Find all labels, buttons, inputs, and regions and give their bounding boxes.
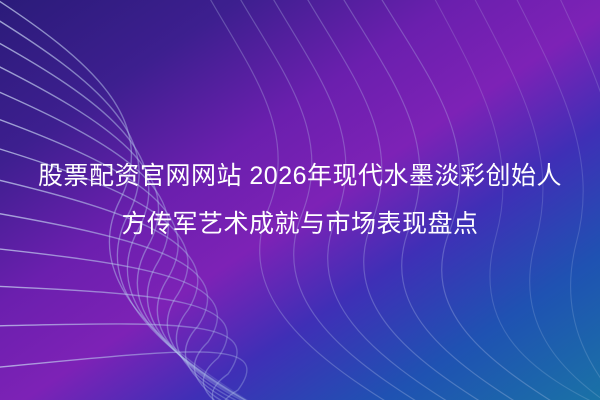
banner-container: 股票配资官网网站 2026年现代水墨淡彩创始人 方传军艺术成就与市场表现盘点 bbox=[0, 0, 600, 400]
page-title-line-1: 股票配资官网网站 2026年现代水墨淡彩创始人 bbox=[38, 158, 562, 194]
page-title-line-2: 方传军艺术成就与市场表现盘点 bbox=[121, 206, 478, 242]
banner-title-block: 股票配资官网网站 2026年现代水墨淡彩创始人 方传军艺术成就与市场表现盘点 bbox=[0, 0, 600, 400]
